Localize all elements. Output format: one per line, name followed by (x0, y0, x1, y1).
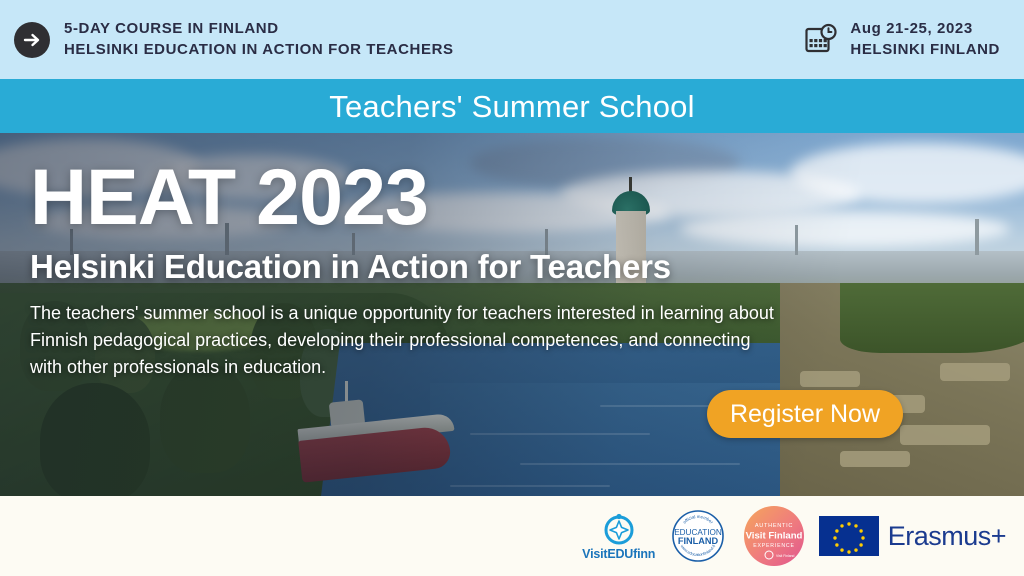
register-now-button[interactable]: Register Now (707, 390, 903, 438)
visiteduFinn-label: VisitEDUfinn (582, 547, 655, 561)
promotional-banner: 5-DAY COURSE IN FINLAND HELSINKI EDUCATI… (0, 0, 1024, 576)
program-title: Teachers' Summer School (329, 91, 694, 122)
program-title-band: Teachers' Summer School (0, 79, 1024, 133)
date-location-group: Aug 21-25, 2023 HELSINKI FINLAND (804, 20, 1000, 60)
education-finland-logo[interactable]: official member www.educationfinland.fi … (667, 505, 729, 567)
svg-text:AUTHENTIC: AUTHENTIC (755, 523, 793, 529)
course-duration-label: 5-DAY COURSE IN FINLAND (64, 20, 454, 39)
erasmus-plus-logo[interactable]: Erasmus+ (819, 516, 1006, 556)
course-name-label: HELSINKI EDUCATION IN ACTION FOR TEACHER… (64, 41, 454, 60)
course-info-lines: 5-DAY COURSE IN FINLAND HELSINKI EDUCATI… (64, 20, 454, 60)
event-location-label: HELSINKI FINLAND (850, 41, 1000, 60)
top-info-bar: 5-DAY COURSE IN FINLAND HELSINKI EDUCATI… (0, 0, 1024, 79)
svg-text:Visit Finland: Visit Finland (745, 531, 802, 542)
visiteduFinn-logo[interactable]: VisitEDUfinn (585, 512, 653, 561)
erasmus-plus-label: Erasmus+ (888, 521, 1006, 552)
hero-section: HEAT 2023 Helsinki Education in Action f… (0, 133, 1024, 496)
arrow-right-icon (14, 22, 50, 58)
hero-title: HEAT 2023 (30, 161, 990, 234)
date-location-lines: Aug 21-25, 2023 HELSINKI FINLAND (850, 20, 1000, 60)
course-info-group: 5-DAY COURSE IN FINLAND HELSINKI EDUCATI… (14, 20, 454, 60)
calendar-clock-icon (804, 23, 838, 57)
visit-finland-logo[interactable]: AUTHENTIC Visit Finland EXPERIENCE Visit… (743, 505, 805, 567)
svg-text:EXPERIENCE: EXPERIENCE (753, 543, 794, 549)
hero-text-block: HEAT 2023 Helsinki Education in Action f… (30, 161, 990, 382)
svg-text:FINLAND: FINLAND (678, 536, 719, 546)
event-date-label: Aug 21-25, 2023 (850, 20, 972, 39)
hero-description: The teachers' summer school is a unique … (30, 300, 775, 382)
eu-flag-icon (819, 516, 879, 556)
compass-star-icon (602, 512, 636, 546)
partner-logos-footer: VisitEDUfinn official member www.educati… (0, 496, 1024, 576)
svg-text:Visit Finland: Visit Finland (776, 554, 795, 558)
hero-subtitle: Helsinki Education in Action for Teacher… (30, 248, 990, 286)
